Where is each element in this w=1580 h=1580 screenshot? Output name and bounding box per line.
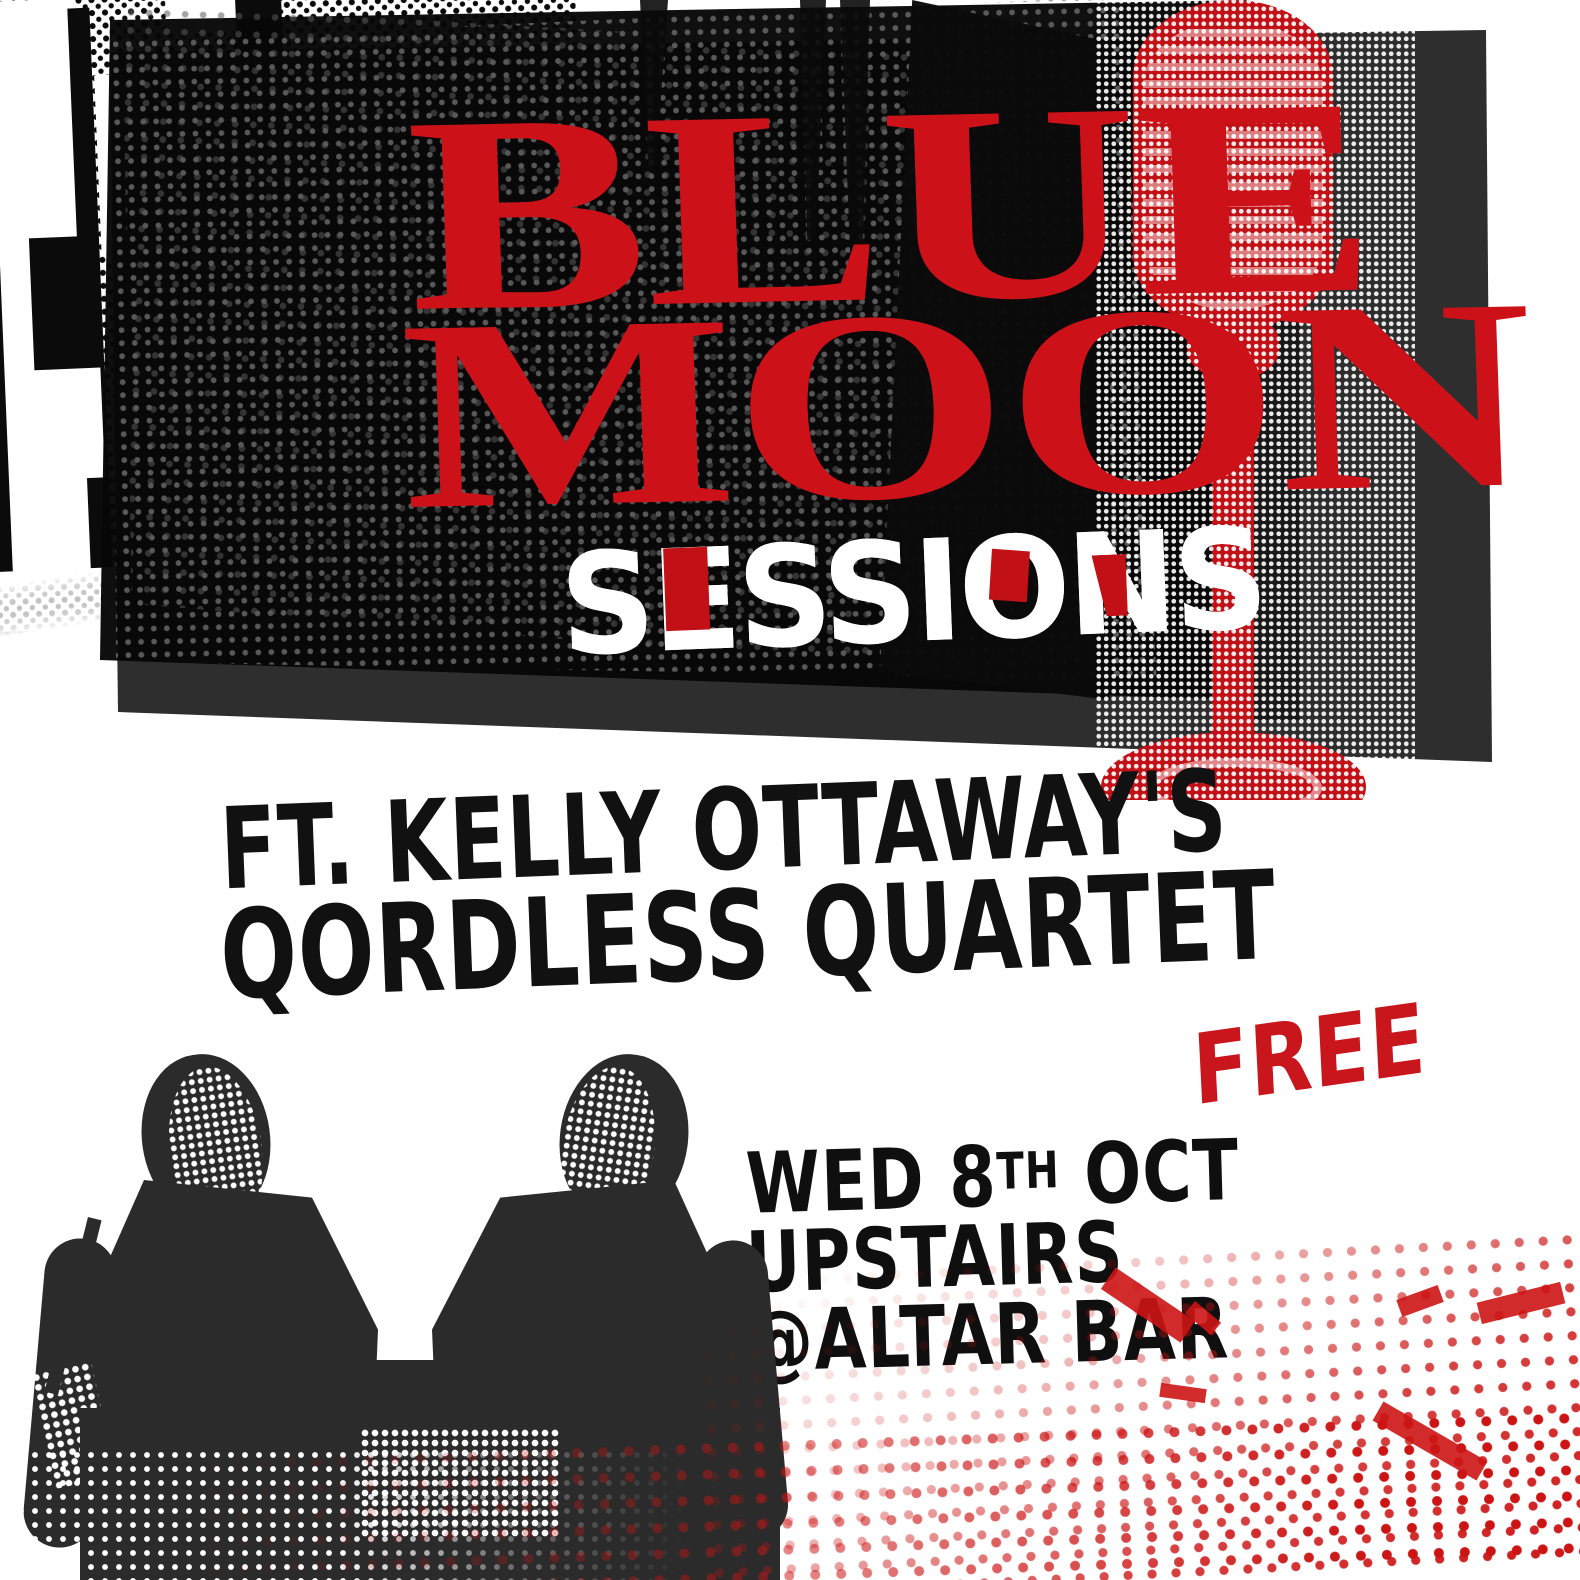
event-date-suffix: TH xyxy=(996,1140,1061,1201)
sessions-letter-s2: S xyxy=(734,515,825,681)
collage-header: BLUE MOON SESSIONS xyxy=(0,0,1580,800)
sessions-letter-s3: S xyxy=(819,511,916,678)
poster-title: BLUE MOON xyxy=(398,100,1158,527)
band-name: FT. KELLY OTTAWAY'S QORDLESS QUARTET xyxy=(190,790,1190,985)
band-name-line-2: QORDLESS QUARTET xyxy=(218,862,1162,1016)
sessions-letter-s4: S xyxy=(1170,498,1267,665)
sessions-letter-n: N xyxy=(1064,501,1177,668)
title-line-moon: MOON xyxy=(398,284,1388,527)
event-poster: BLUE MOON SESSIONS FT. KELLY OTTAWAY'S Q… xyxy=(0,0,1580,1580)
sessions-letter-i: I xyxy=(910,510,961,675)
price-badge-free: FREE xyxy=(1190,983,1429,1128)
subtitle-sessions: SESSIONS xyxy=(557,498,1267,688)
sessions-letter-s1: S xyxy=(557,521,654,688)
sessions-letter-e: E xyxy=(648,518,740,684)
sessions-letter-o: O xyxy=(955,506,1069,673)
